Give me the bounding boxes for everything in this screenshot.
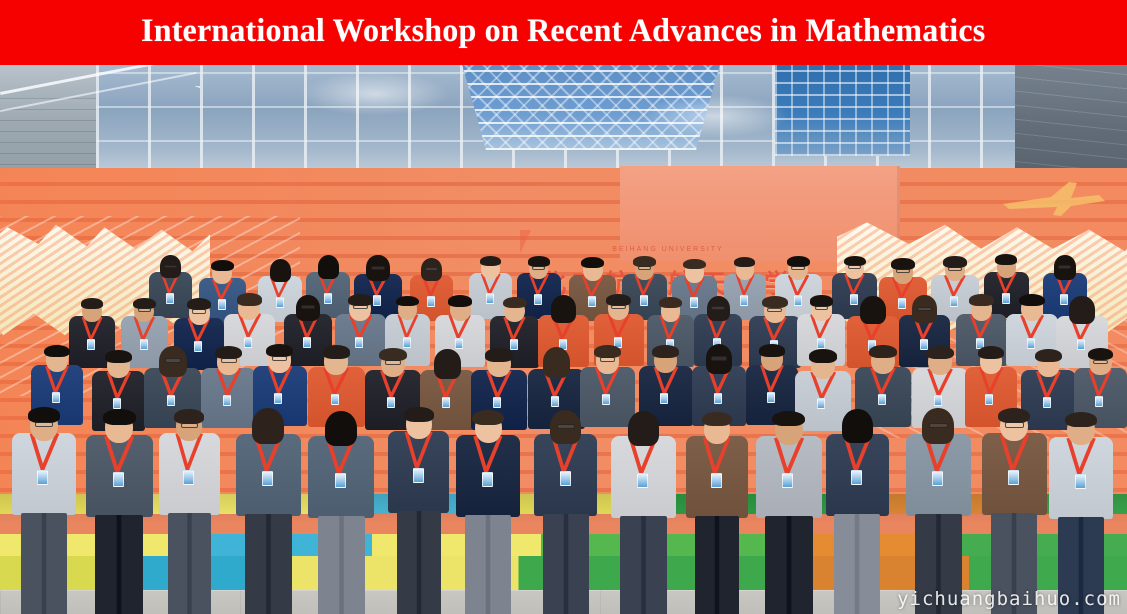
person-hair bbox=[1088, 348, 1114, 360]
attendee-badge bbox=[714, 393, 722, 404]
person-hair bbox=[995, 254, 1017, 265]
person-glasses bbox=[611, 305, 625, 309]
title-banner: International Workshop on Recent Advance… bbox=[0, 0, 1127, 65]
attendee-badge bbox=[817, 398, 825, 409]
person-glasses bbox=[165, 358, 182, 363]
person-legs bbox=[397, 511, 441, 614]
person-glasses bbox=[557, 424, 575, 429]
person-hair bbox=[734, 257, 755, 267]
person-hair bbox=[926, 346, 954, 359]
person-glasses bbox=[929, 423, 948, 429]
attendee-badge bbox=[1043, 397, 1051, 408]
person-hair bbox=[1069, 296, 1094, 324]
person-legs bbox=[695, 516, 739, 614]
attendee-badge bbox=[87, 339, 95, 350]
person bbox=[982, 408, 1047, 614]
person-glasses bbox=[1058, 265, 1071, 269]
person-hair bbox=[434, 349, 461, 379]
page-title: International Workshop on Recent Advance… bbox=[141, 15, 985, 48]
attendee-badge bbox=[482, 472, 493, 487]
attendee-badge bbox=[493, 397, 501, 408]
person-glasses bbox=[221, 358, 237, 363]
person-glasses bbox=[301, 305, 315, 309]
person-hair bbox=[943, 256, 967, 267]
person-glasses bbox=[35, 422, 54, 428]
person-hair bbox=[396, 296, 419, 307]
person bbox=[686, 412, 747, 614]
screenshot-root: International Workshop on Recent Advance… bbox=[0, 0, 1127, 614]
attendee-badge bbox=[817, 338, 825, 349]
person-legs bbox=[543, 514, 589, 614]
person-hair bbox=[105, 350, 131, 363]
attendee-badge bbox=[113, 398, 121, 409]
person-hair bbox=[325, 411, 357, 447]
person-hair bbox=[270, 259, 292, 283]
person-hair bbox=[869, 345, 897, 358]
person-glasses bbox=[353, 305, 368, 309]
person-glasses bbox=[181, 423, 198, 428]
person-glasses bbox=[192, 309, 206, 313]
person-glasses bbox=[711, 306, 725, 310]
attendee-badge bbox=[934, 395, 942, 406]
attendee-badge bbox=[767, 392, 775, 403]
person-hair bbox=[252, 408, 284, 443]
person-hair bbox=[759, 344, 785, 356]
attendee-badge bbox=[331, 394, 339, 405]
person-hair bbox=[594, 345, 621, 358]
attendee-badge bbox=[1027, 338, 1035, 349]
person-hair bbox=[772, 411, 805, 427]
person-glasses bbox=[138, 308, 152, 312]
person bbox=[388, 407, 449, 614]
person bbox=[906, 408, 972, 614]
person-glasses bbox=[1093, 360, 1108, 364]
person bbox=[86, 409, 153, 614]
person-hair bbox=[211, 260, 234, 271]
group-photo: BEIHANG UNIVERSITY 北京航空航天大学 BEIJING UNIV… bbox=[0, 64, 1127, 614]
attendee-badge bbox=[1008, 470, 1019, 485]
attendee-badge bbox=[113, 472, 124, 487]
attendee-badge bbox=[262, 471, 273, 486]
person-legs bbox=[21, 513, 68, 614]
person-glasses bbox=[815, 306, 829, 310]
person-legs bbox=[168, 513, 211, 614]
attendee-badge bbox=[335, 473, 346, 488]
person-hair bbox=[809, 349, 837, 362]
person-hair bbox=[860, 296, 886, 324]
attendee-badge bbox=[52, 392, 60, 403]
person bbox=[308, 411, 374, 614]
attendee-badge bbox=[560, 471, 571, 486]
person bbox=[236, 408, 301, 614]
person-hair bbox=[652, 345, 679, 358]
person bbox=[456, 410, 520, 614]
attendee-badge bbox=[37, 470, 48, 485]
attendee-badge bbox=[167, 395, 175, 406]
person bbox=[534, 410, 597, 614]
person-hair bbox=[323, 345, 351, 358]
person-glasses bbox=[711, 356, 727, 361]
attendee-badge bbox=[711, 473, 722, 488]
person-hair bbox=[762, 296, 788, 308]
person-hair bbox=[81, 298, 104, 309]
person-hair bbox=[702, 412, 732, 427]
attendee-badge bbox=[782, 473, 793, 488]
attendee-badge bbox=[403, 337, 411, 348]
person-glasses bbox=[371, 266, 385, 270]
person bbox=[826, 409, 889, 614]
attendee-badge bbox=[551, 396, 559, 407]
person-glasses bbox=[767, 308, 782, 312]
person-legs bbox=[318, 516, 365, 614]
person-hair bbox=[215, 346, 242, 359]
person bbox=[1049, 412, 1113, 614]
person-hair bbox=[659, 297, 682, 308]
person-glasses bbox=[896, 269, 910, 273]
person bbox=[756, 411, 822, 614]
person-hair bbox=[379, 348, 406, 361]
person-glasses bbox=[425, 267, 438, 271]
person-hair bbox=[998, 408, 1030, 423]
person-glasses bbox=[638, 266, 651, 270]
person-glasses bbox=[948, 267, 962, 271]
person-hair bbox=[44, 345, 70, 357]
person-hair bbox=[551, 295, 576, 323]
attendee-badge bbox=[1095, 396, 1103, 407]
attendee-badge bbox=[1075, 474, 1086, 489]
person-hair bbox=[978, 346, 1004, 358]
person-hair bbox=[503, 297, 527, 309]
attendee-badge bbox=[413, 468, 424, 483]
person-hair bbox=[1035, 349, 1062, 362]
person-glasses bbox=[385, 360, 401, 365]
person-legs bbox=[765, 516, 813, 614]
person-glasses bbox=[272, 356, 288, 361]
attendee-badge bbox=[851, 470, 862, 485]
person-hair bbox=[683, 259, 705, 270]
person-legs bbox=[465, 515, 511, 614]
attendee-badge bbox=[183, 470, 194, 485]
person-glasses bbox=[917, 307, 932, 311]
attendee-badge bbox=[985, 394, 993, 405]
person bbox=[12, 407, 77, 614]
attendee-badge bbox=[223, 395, 231, 406]
attendee-badge bbox=[274, 393, 282, 404]
person-hair bbox=[528, 256, 550, 267]
person-glasses bbox=[532, 266, 545, 270]
attendee-badge bbox=[932, 471, 943, 486]
person-hair bbox=[628, 411, 660, 446]
attendee-badge bbox=[660, 393, 668, 404]
person-hair bbox=[969, 294, 994, 306]
person-legs bbox=[620, 516, 666, 614]
person-hair bbox=[472, 410, 504, 425]
person-hair bbox=[480, 256, 502, 266]
attendee-badge bbox=[602, 394, 610, 405]
person-glasses bbox=[600, 357, 616, 362]
person-legs bbox=[245, 514, 292, 614]
person-hair bbox=[1065, 412, 1097, 427]
person-hair bbox=[237, 293, 262, 305]
person-hair bbox=[581, 257, 604, 268]
person-hair bbox=[103, 409, 136, 425]
person-glasses bbox=[791, 266, 805, 270]
person-hair bbox=[842, 409, 873, 443]
watermark: yichuangbaihuo.com bbox=[897, 588, 1121, 610]
person bbox=[159, 409, 219, 614]
person-hair bbox=[404, 407, 434, 422]
person-glasses bbox=[164, 265, 176, 269]
person-legs bbox=[95, 515, 143, 614]
person-hair bbox=[1019, 294, 1045, 306]
attendee-badge bbox=[387, 397, 395, 408]
person-hair bbox=[448, 295, 472, 307]
people-layer bbox=[0, 64, 1127, 614]
attendee-badge bbox=[637, 473, 648, 488]
person bbox=[611, 411, 675, 614]
person-hair bbox=[266, 344, 293, 357]
attendee-badge bbox=[455, 338, 463, 349]
attendee-badge bbox=[878, 394, 886, 405]
person-hair bbox=[28, 407, 60, 422]
person-hair bbox=[318, 255, 340, 279]
person-legs bbox=[834, 514, 880, 614]
person-hair bbox=[485, 348, 513, 361]
person-hair bbox=[174, 409, 204, 423]
person-glasses bbox=[1005, 422, 1024, 428]
person-hair bbox=[543, 347, 571, 378]
person-glasses bbox=[848, 265, 861, 269]
